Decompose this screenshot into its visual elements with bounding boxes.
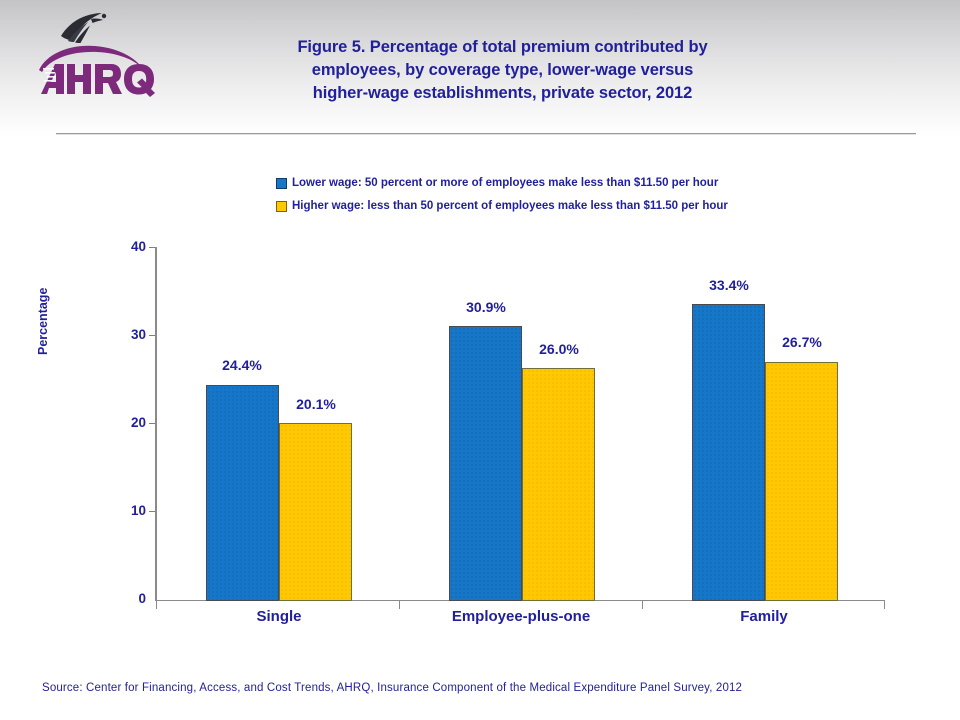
y-tick-label-30: 30 [110, 327, 146, 342]
figure-title: Figure 5. Percentage of total premium co… [230, 36, 775, 105]
legend-label-lower-wage: Lower wage: 50 percent or more of employ… [292, 177, 718, 189]
bar-value-epo-higher-wage: 26.0% [514, 341, 604, 357]
bar-family-higher-wage[interactable] [765, 362, 838, 601]
y-tick-label-0: 0 [110, 591, 146, 606]
y-tick-mark-20 [149, 423, 156, 424]
ahrq-logo [33, 42, 158, 100]
x-axis-label-employee-plus-one: Employee-plus-one [401, 608, 641, 625]
bar-epo-lower-wage[interactable] [449, 326, 522, 601]
header-divider [56, 133, 916, 135]
y-axis-line [155, 247, 157, 601]
bar-value-single-higher-wage: 20.1% [271, 396, 361, 412]
x-axis-label-family: Family [644, 608, 884, 625]
bar-value-family-higher-wage: 26.7% [757, 334, 847, 350]
x-axis-line [155, 600, 885, 601]
y-tick-label-20: 20 [110, 415, 146, 430]
figure-title-line-1: Figure 5. Percentage of total premium co… [230, 36, 775, 59]
y-tick-mark-40 [149, 247, 156, 248]
bar-value-single-lower-wage: 24.4% [197, 357, 287, 373]
x-tick-mark-start [156, 601, 157, 609]
source-note: Source: Center for Financing, Access, an… [42, 682, 742, 694]
bar-value-family-lower-wage: 33.4% [684, 277, 774, 293]
legend-item-higher-wage[interactable]: Higher wage: less than 50 percent of emp… [276, 196, 796, 216]
y-tick-mark-30 [149, 335, 156, 336]
chart-legend: Lower wage: 50 percent or more of employ… [276, 173, 796, 219]
legend-swatch-blue-icon [276, 178, 287, 189]
x-axis-label-single: Single [159, 608, 399, 625]
bar-value-epo-lower-wage: 30.9% [441, 299, 531, 315]
x-tick-mark-2 [642, 601, 643, 609]
y-axis-title: Percentage [36, 288, 50, 355]
legend-label-higher-wage: Higher wage: less than 50 percent of emp… [292, 200, 728, 212]
bar-family-lower-wage[interactable] [692, 304, 765, 601]
figure-title-line-2: employees, by coverage type, lower-wage … [230, 59, 775, 82]
y-tick-mark-10 [149, 511, 156, 512]
figure-title-line-3: higher-wage establishments, private sect… [230, 82, 775, 105]
bar-single-higher-wage[interactable] [279, 423, 352, 601]
y-tick-label-40: 40 [110, 239, 146, 254]
legend-item-lower-wage[interactable]: Lower wage: 50 percent or more of employ… [276, 173, 796, 193]
bar-single-lower-wage[interactable] [206, 385, 279, 601]
legend-swatch-gold-icon [276, 201, 287, 212]
y-tick-label-10: 10 [110, 503, 146, 518]
bar-epo-higher-wage[interactable] [522, 368, 595, 601]
page-header: Figure 5. Percentage of total premium co… [0, 0, 960, 136]
x-tick-mark-1 [399, 601, 400, 609]
hhs-eagle-icon [55, 10, 117, 46]
x-tick-mark-end [884, 601, 885, 609]
